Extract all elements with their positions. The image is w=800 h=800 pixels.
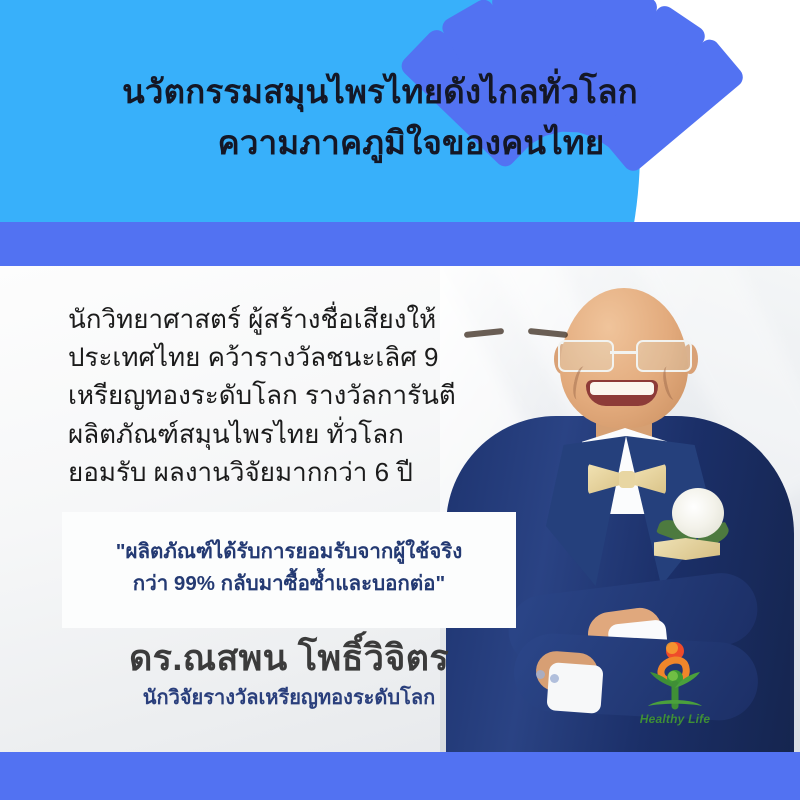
header-title-line-2: ความภาคภูมิใจของคนไทย xyxy=(0,117,760,168)
bow-tie xyxy=(588,462,666,496)
testimonial-quote: "ผลิตภัณฑ์ได้รับการยอมรับจากผู้ใช้จริง ก… xyxy=(62,536,516,600)
white-rose-boutonniere xyxy=(672,488,724,538)
header-divider-bar xyxy=(0,222,800,266)
person-role: นักวิจัยรางวัลเหรียญทองระดับโลก xyxy=(62,681,516,713)
lead-line-5: ยอมรับ ผลงานวิจัยมากกว่า 6 ปี xyxy=(68,453,538,491)
lead-line-2: ประเทศไทย คว้ารางวัลชนะเลิศ 9 xyxy=(68,338,538,376)
sleeve-button xyxy=(536,670,545,679)
healthy-life-logo: Healthy Life xyxy=(630,638,720,734)
lead-line-1: นักวิทยาศาสตร์ ผู้สร้างชื่อเสียงให้ xyxy=(68,300,538,338)
lead-paragraph: นักวิทยาศาสตร์ ผู้สร้างชื่อเสียงให้ ประเ… xyxy=(68,300,538,491)
poster-root: นวัตกรรมสมุนไพรไทยดังไกลทั่วโลก ความภาคภ… xyxy=(0,0,800,800)
person-credit: ดร.ณสพน โพธิ์วิจิตร นักวิจัยรางวัลเหรียญ… xyxy=(62,636,516,713)
footer-bar xyxy=(0,752,800,800)
smiling-mouth xyxy=(586,380,658,406)
header-title: นวัตกรรมสมุนไพรไทยดังไกลทั่วโลก ความภาคภ… xyxy=(0,66,760,168)
lead-line-3: เหรียญทองระดับโลก รางวัลการันตี xyxy=(68,376,538,414)
lead-line-4: ผลิตภัณฑ์สมุนไพรไทย ทั่วโลก xyxy=(68,415,538,453)
poster-body: นักวิทยาศาสตร์ ผู้สร้างชื่อเสียงให้ ประเ… xyxy=(0,266,800,752)
quote-line-2: กว่า 99% กลับมาซื้อซ้ำและบอกต่อ" xyxy=(62,568,516,600)
shirt-cuff xyxy=(546,662,603,714)
eyeglasses-icon xyxy=(554,340,694,370)
header-title-line-1: นวัตกรรมสมุนไพรไทยดังไกลทั่วโลก xyxy=(0,66,760,117)
testimonial-quote-box: "ผลิตภัณฑ์ได้รับการยอมรับจากผู้ใช้จริง ก… xyxy=(62,512,516,628)
sleeve-button xyxy=(550,674,559,683)
healthy-life-figure-icon xyxy=(630,638,720,714)
logo-wordmark: Healthy Life xyxy=(630,712,720,726)
poster-header: นวัตกรรมสมุนไพรไทยดังไกลทั่วโลก ความภาคภ… xyxy=(0,0,800,222)
quote-line-1: "ผลิตภัณฑ์ได้รับการยอมรับจากผู้ใช้จริง xyxy=(62,536,516,568)
person-name: ดร.ณสพน โพธิ์วิจิตร xyxy=(62,636,516,679)
